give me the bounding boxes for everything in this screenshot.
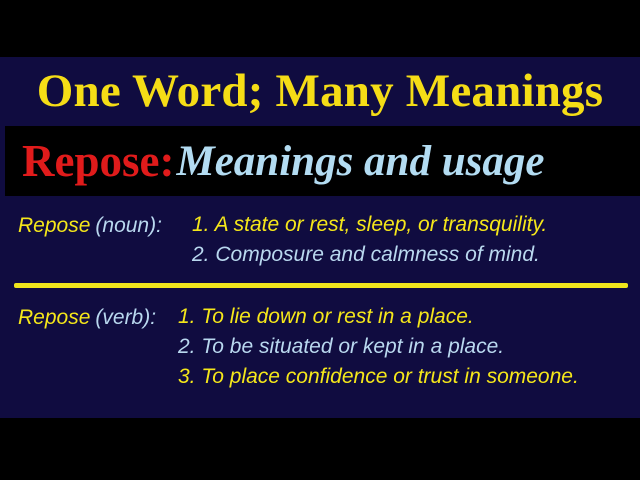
definition-item-number: 3. xyxy=(178,365,196,388)
slide-title: One Word; Many Meanings xyxy=(37,68,603,115)
definition-row: Repose(noun): 1. A state or rest, sleep,… xyxy=(0,214,640,244)
definition-item: 1. A state or rest, sleep, or transquili… xyxy=(192,214,547,235)
definition-item: 2. To be situated or kept in a place. xyxy=(178,336,504,357)
definition-row: 3. To place confidence or trust in someo… xyxy=(0,366,640,396)
definition-block-verb: Repose(verb): 1. To lie down or rest in … xyxy=(0,306,640,396)
slide-title-row: One Word; Many Meanings xyxy=(0,57,640,126)
definition-label-noun: Repose(noun): xyxy=(18,215,162,236)
definition-item-number: 2. xyxy=(192,243,210,266)
subtitle-term: Repose: xyxy=(22,139,174,184)
definition-item-text: Composure and calmness of mind. xyxy=(215,243,540,266)
definition-word: Repose xyxy=(18,214,90,237)
definition-label-verb: Repose(verb): xyxy=(18,307,156,328)
slide-canvas: One Word; Many Meanings Repose: Meanings… xyxy=(0,0,640,480)
definition-item: 3. To place confidence or trust in someo… xyxy=(178,366,579,387)
subtitle-gloss: Meanings and usage xyxy=(176,140,544,183)
definition-item-text: A state or rest, sleep, or transquility. xyxy=(215,213,548,236)
definition-block-noun: Repose(noun): 1. A state or rest, sleep,… xyxy=(0,214,640,274)
definition-part-of-speech: (verb): xyxy=(95,306,156,329)
subtitle-band: Repose: Meanings and usage xyxy=(5,126,640,196)
definition-item: 1. To lie down or rest in a place. xyxy=(178,306,474,327)
section-divider xyxy=(14,283,628,288)
definition-row: 2. Composure and calmness of mind. xyxy=(0,244,640,274)
definition-item-number: 2. xyxy=(178,335,196,358)
definition-item: 2. Composure and calmness of mind. xyxy=(192,244,540,265)
definition-item-number: 1. xyxy=(192,213,210,236)
definition-part-of-speech: (noun): xyxy=(95,214,162,237)
definition-item-number: 1. xyxy=(178,305,196,328)
definition-row: 2. To be situated or kept in a place. xyxy=(0,336,640,366)
definition-item-text: To lie down or rest in a place. xyxy=(201,305,473,328)
definition-item-text: To be situated or kept in a place. xyxy=(201,335,504,358)
definition-row: Repose(verb): 1. To lie down or rest in … xyxy=(0,306,640,336)
definition-item-text: To place confidence or trust in someone. xyxy=(201,365,578,388)
definition-word: Repose xyxy=(18,306,90,329)
